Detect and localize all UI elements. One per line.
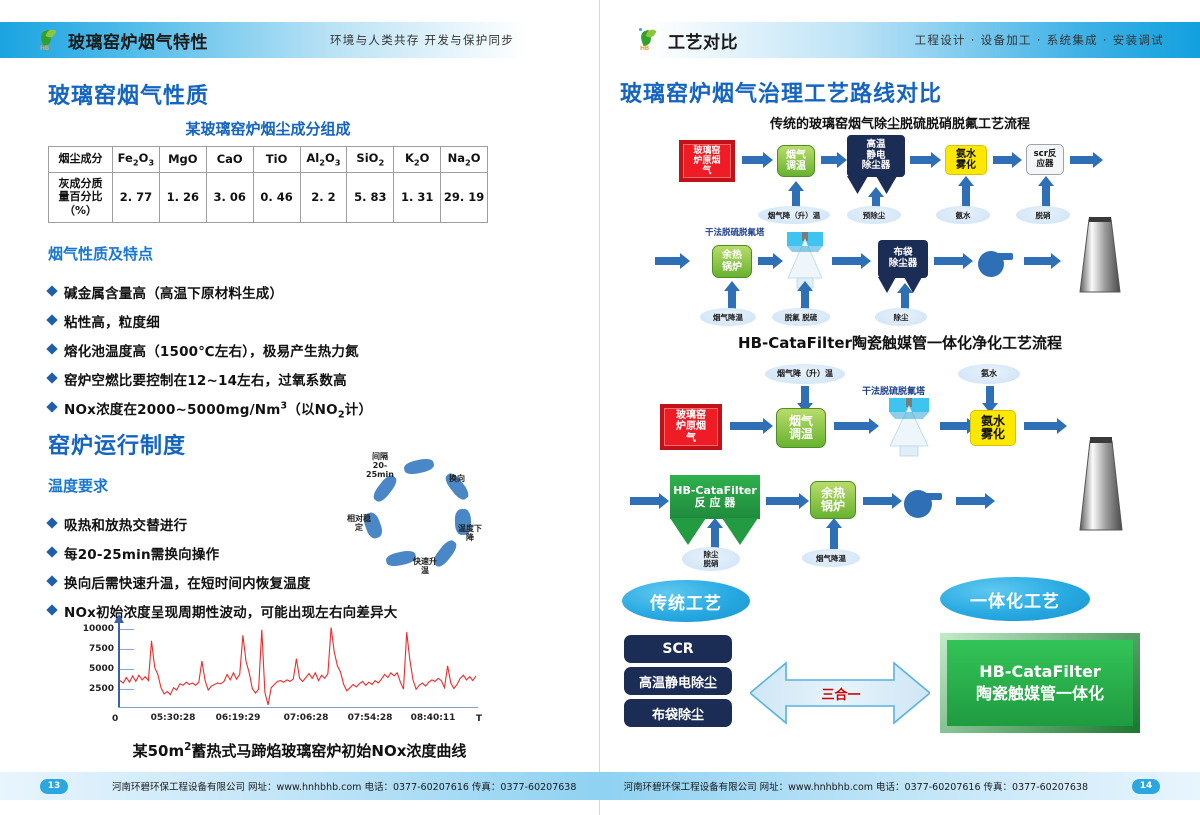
table-row-header-1: 烟尘成分 bbox=[49, 147, 113, 173]
diamond-bullet-icon bbox=[46, 314, 57, 325]
logo-dot-icon bbox=[639, 28, 642, 31]
diamond-bullet-icon bbox=[46, 401, 57, 412]
arrow-up-6 bbox=[801, 290, 809, 310]
label-dry-desulfurization-tower-2: 干法脱硫脱氟塔 bbox=[862, 384, 925, 397]
left-header-title: 玻璃窑炉烟气特性 bbox=[68, 28, 208, 53]
brochure-spread: HB 玻璃窑炉烟气特性 环境与人类共存 开发与保护同步 玻璃窑烟气性质 某玻璃窑… bbox=[0, 0, 1200, 815]
flow1-row1: 玻璃窑炉原烟气 烟气调温 高温静电除尘器 氨水雾化 scr反应器 烟气降（升）温… bbox=[600, 130, 1200, 225]
table-cell-mgo: 1. 26 bbox=[159, 172, 206, 222]
arrow-up-8 bbox=[711, 527, 719, 549]
panel-line2: 陶瓷触媒管一体化 bbox=[976, 683, 1104, 705]
feature-text: 熔化池温度高（1500℃左右），极易产生热力氮 bbox=[64, 340, 359, 360]
footer-company-right: 河南环碧环保工程设备有限公司 网址：www.hnhbhb.com 电话：0377… bbox=[624, 779, 1088, 793]
reversal-cycle-diagram: 间隔20-25min 换向 温度下降 快速升温 相对稳定 bbox=[338, 452, 518, 602]
arrow-11 bbox=[730, 422, 764, 430]
footer-left: 13 河南环碧环保工程设备有限公司 网址：www.hnhbhb.com 电话：0… bbox=[0, 772, 600, 800]
node-waste-heat-boiler-2: 余热锅炉 bbox=[810, 481, 856, 519]
left-page-header: HB 玻璃窑炉烟气特性 环境与人类共存 开发与保护同步 bbox=[0, 22, 599, 58]
table-col-sio2: SiO2 bbox=[347, 147, 394, 173]
arrow-10 bbox=[1024, 257, 1052, 265]
right-header-slogan: 工程设计 · 设备加工 · 系统集成 · 安装调试 bbox=[915, 32, 1164, 48]
logo-dot-icon bbox=[39, 28, 42, 31]
feature-text: 粘性高，粒度细 bbox=[64, 311, 160, 331]
right-header-title: 工艺对比 bbox=[668, 28, 738, 53]
list-item: 窑炉空燃比要控制在12~14左右，过氧系数高 bbox=[48, 369, 488, 389]
temperature-text: 吸热和放热交替进行 bbox=[64, 514, 187, 534]
arrow-up-4 bbox=[1042, 185, 1050, 208]
feature-text: NOx浓度在2000~5000mg/Nm3（以NO2计） bbox=[64, 398, 372, 421]
chart-series-path bbox=[120, 622, 476, 708]
node-gas-temperature-adjust-2: 烟气调温 bbox=[776, 408, 826, 448]
table-cell-na2o: 29. 19 bbox=[441, 172, 488, 222]
footer-company-left: 河南环碧环保工程设备有限公司 网址：www.hnhbhb.com 电话：0377… bbox=[112, 779, 576, 793]
node-ammonia-atomization-2: 氨水雾化 bbox=[970, 410, 1016, 446]
table-col-cao: CaO bbox=[206, 147, 253, 173]
table-cell-al2o3: 2. 2 bbox=[300, 172, 347, 222]
company-logo-icon: HB bbox=[636, 28, 660, 52]
node-high-temp-esp: 高温静电除尘器 bbox=[847, 135, 905, 177]
arrow-down-1 bbox=[801, 386, 809, 404]
comparison-block: 传统工艺 一体化工艺 SCR 高温静电除尘 布袋除尘 三合一 HB-CataFi… bbox=[600, 575, 1200, 755]
stack-chimney-icon-2 bbox=[1070, 437, 1132, 537]
feature-text: 碱金属含量高（高温下原材料生成） bbox=[64, 282, 283, 302]
company-logo-icon: HB bbox=[36, 28, 60, 52]
table-cell-k2o: 1. 31 bbox=[394, 172, 441, 222]
subsection-title-temperature: 温度要求 bbox=[48, 475, 108, 496]
arrow-up-5 bbox=[728, 290, 736, 310]
caption-dedusting-denitration: 除尘脱硝 bbox=[682, 547, 740, 571]
chip-high-temp-esp: 高温静电除尘 bbox=[624, 667, 732, 695]
cycle-arc-1 bbox=[403, 457, 435, 476]
chart-xtick-2: 06:19:29 bbox=[216, 713, 261, 723]
label-dry-desulfurization-tower: 干法脱硫脱氟塔 bbox=[705, 226, 765, 238]
node-bag-filter: 布袋除尘器 bbox=[878, 240, 928, 278]
diamond-bullet-icon bbox=[46, 575, 57, 586]
table-col-al2o3: Al2O3 bbox=[300, 147, 347, 173]
arrow-17 bbox=[863, 497, 893, 505]
diamond-bullet-icon bbox=[46, 546, 57, 557]
label-three-in-one: 三合一 bbox=[786, 681, 896, 705]
node-hb-catafilter-reactor: HB-CataFilter 反 应 器 bbox=[670, 475, 760, 519]
node-scr-reactor: scr反应器 bbox=[1026, 144, 1064, 175]
logo-text: HB bbox=[640, 45, 649, 52]
flow1-row2: 余热锅炉 干法脱硫脱氟塔 布袋除尘器 bbox=[600, 232, 1200, 332]
arrow-up-3 bbox=[962, 185, 970, 208]
page-footer: 13 河南环碧环保工程设备有限公司 网址：www.hnhbhb.com 电话：0… bbox=[0, 772, 1200, 800]
feature-text: 窑炉空燃比要控制在12~14左右，过氧系数高 bbox=[64, 369, 347, 389]
diamond-bullet-icon bbox=[46, 372, 57, 383]
stack-chimney-icon bbox=[1070, 217, 1130, 299]
arrow-12 bbox=[834, 422, 870, 430]
arrow-8 bbox=[832, 257, 862, 265]
caption-ammonia-2: 氨水 bbox=[958, 364, 1020, 384]
arrow-6 bbox=[655, 257, 681, 265]
chip-bag-filter: 布袋除尘 bbox=[624, 699, 732, 727]
dry-tower-icon-2 bbox=[885, 398, 933, 460]
chart-ytick-5000: 5000 bbox=[89, 664, 114, 674]
table-col-tio: TiO bbox=[253, 147, 300, 173]
logo-text: HB bbox=[40, 45, 49, 52]
caption-ammonia: 氨水 bbox=[936, 206, 990, 224]
left-page: HB 玻璃窑炉烟气特性 环境与人类共存 开发与保护同步 玻璃窑烟气性质 某玻璃窑… bbox=[0, 0, 600, 815]
cycle-label-temp-drop: 温度下降 bbox=[454, 524, 486, 542]
features-list: 碱金属含量高（高温下原材料生成） 粘性高，粒度细 熔化池温度高（1500℃左右）… bbox=[48, 273, 488, 430]
caption-gas-temp-change: 烟气降（升）温 bbox=[758, 206, 830, 224]
chip-scr: SCR bbox=[624, 635, 732, 663]
node-raw-flue-gas-2: 玻璃窑炉原烟气 bbox=[660, 404, 722, 450]
cycle-label-interval: 间隔20-25min bbox=[358, 452, 402, 480]
table-caption: 某玻璃窑炉烟尘成分组成 bbox=[48, 118, 488, 139]
arrow-5 bbox=[1070, 156, 1094, 164]
right-page-title: 玻璃窑炉烟气治理工艺路线对比 bbox=[620, 76, 942, 108]
tag-integrated-process: 一体化工艺 bbox=[940, 577, 1090, 621]
dust-composition-table: 烟尘成分 Fe2O3 MgO CaO TiO Al2O3 SiO2 K2O Na… bbox=[48, 146, 488, 223]
list-item: 熔化池温度高（1500℃左右），极易产生热力氮 bbox=[48, 340, 488, 360]
diamond-bullet-icon bbox=[46, 517, 57, 528]
arrow-16 bbox=[766, 497, 800, 505]
list-item: NOx浓度在2000~5000mg/Nm3（以NO2计） bbox=[48, 398, 488, 421]
table-cell-fe2o3: 2. 77 bbox=[113, 172, 160, 222]
chart-xtick-1: 05:30:28 bbox=[151, 713, 196, 723]
caption-gas-cooling-2: 烟气降温 bbox=[802, 549, 860, 567]
arrow-3 bbox=[910, 156, 932, 164]
subsection-title-gas-characteristics: 烟气性质及特点 bbox=[48, 243, 153, 264]
table-value-row: 灰成分质量百分比（%） 2. 77 1. 26 3. 06 0. 46 2. 2… bbox=[49, 172, 488, 222]
arrow-15 bbox=[630, 497, 660, 505]
arrow-13 bbox=[940, 422, 968, 430]
caption-gas-cooling-1: 烟气降温 bbox=[700, 308, 756, 326]
induced-draft-fan-icon-2 bbox=[902, 485, 948, 519]
table-col-na2o: Na2O bbox=[441, 147, 488, 173]
footer-right: 河南环碧环保工程设备有限公司 网址：www.hnhbhb.com 电话：0377… bbox=[600, 772, 1200, 800]
panel-line1: HB-CataFilter bbox=[979, 661, 1101, 683]
caption-gas-temp-change-2: 烟气降（升）温 bbox=[765, 364, 845, 384]
caption-denitration: 脱硝 bbox=[1016, 206, 1070, 224]
temperature-text: 每20-25min需换向操作 bbox=[64, 543, 219, 563]
cycle-label-fast-heat: 快速升温 bbox=[408, 557, 442, 575]
table-cell-sio2: 5. 83 bbox=[347, 172, 394, 222]
flow2-title: HB-CataFilter陶瓷触媒管一体化净化工艺流程 bbox=[620, 332, 1180, 353]
caption-defluorination-desulfurization: 脱氟 脱硫 bbox=[772, 308, 830, 326]
tag-traditional-process: 传统工艺 bbox=[622, 580, 750, 622]
table-col-mgo: MgO bbox=[159, 147, 206, 173]
table-cell-cao: 3. 06 bbox=[206, 172, 253, 222]
node-gas-temperature-adjust: 烟气调温 bbox=[777, 145, 815, 177]
right-page-header: HB 工艺对比 工程设计 · 设备加工 · 系统集成 · 安装调试 bbox=[600, 22, 1200, 58]
node-ammonia-atomization: 氨水雾化 bbox=[945, 145, 987, 175]
left-header-slogan: 环境与人类共存 开发与保护同步 bbox=[330, 32, 514, 48]
node-waste-heat-boiler: 余热锅炉 bbox=[712, 245, 752, 278]
arrow-1 bbox=[742, 156, 764, 164]
chart-xtick-5: 08:40:11 bbox=[411, 713, 456, 723]
chart-y-tick-labels: 10000 7500 5000 2500 bbox=[78, 622, 114, 708]
chart-x-axis-label: T bbox=[476, 714, 482, 724]
diamond-bullet-icon bbox=[46, 343, 57, 354]
list-item: 粘性高，粒度细 bbox=[48, 311, 488, 331]
nox-concentration-chart: 10000 7500 5000 2500 0 05:30:28 06:19:29… bbox=[78, 622, 478, 722]
chart-caption: 某50m2蓄热式马蹄焰玻璃窑炉初始NOx浓度曲线 bbox=[0, 740, 599, 761]
table-col-fe2o3: Fe2O3 bbox=[113, 147, 160, 173]
caption-dedusting: 除尘 bbox=[875, 308, 927, 326]
chart-origin-label: 0 bbox=[112, 714, 118, 724]
arrow-18 bbox=[956, 497, 986, 505]
node-raw-flue-gas: 玻璃窑炉原烟气 bbox=[679, 140, 735, 182]
flow2-row2: HB-CataFilter 反 应 器 余热锅炉 bbox=[600, 465, 1200, 570]
right-page: HB 工艺对比 工程设计 · 设备加工 · 系统集成 · 安装调试 玻璃窑炉烟气… bbox=[600, 0, 1200, 815]
diamond-bullet-icon bbox=[46, 285, 57, 296]
arrow-down-2 bbox=[986, 386, 994, 404]
induced-draft-fan-icon bbox=[976, 246, 1018, 278]
table-header-row: 烟尘成分 Fe2O3 MgO CaO TiO Al2O3 SiO2 K2O Na… bbox=[49, 147, 488, 173]
node-hb-catafilter-line2: 反 应 器 bbox=[695, 497, 736, 509]
table-cell-tio: 0. 46 bbox=[253, 172, 300, 222]
table-col-k2o: K2O bbox=[394, 147, 441, 173]
arrow-14 bbox=[1024, 422, 1058, 430]
list-item: 碱金属含量高（高温下原材料生成） bbox=[48, 282, 488, 302]
caption-pre-dedusting: 预除尘 bbox=[847, 206, 901, 224]
arrow-4 bbox=[993, 156, 1013, 164]
chart-ytick-10000: 10000 bbox=[83, 624, 114, 634]
chart-ytick-7500: 7500 bbox=[89, 644, 114, 654]
arrow-up-9 bbox=[830, 527, 838, 549]
table-row-header-2: 灰成分质量百分比（%） bbox=[49, 172, 113, 222]
chart-xtick-4: 07:54:28 bbox=[348, 713, 393, 723]
diamond-bullet-icon bbox=[46, 604, 57, 615]
chart-ytick-2500: 2500 bbox=[89, 684, 114, 694]
arrow-9 bbox=[934, 257, 964, 265]
arrow-2 bbox=[821, 156, 838, 164]
section-title-kiln-operation: 窑炉运行制度 bbox=[48, 428, 186, 460]
page-number-right: 14 bbox=[1132, 779, 1160, 794]
cycle-label-reversal: 换向 bbox=[442, 474, 472, 483]
cycle-label-stable: 相对稳定 bbox=[342, 514, 376, 532]
panel-hb-catafilter-integrated: HB-CataFilter 陶瓷触媒管一体化 bbox=[940, 633, 1140, 733]
arrow-7 bbox=[758, 257, 774, 265]
page-number-left: 13 bbox=[40, 779, 68, 794]
temperature-text: 换向后需快速升温，在短时间内恢复温度 bbox=[64, 572, 311, 592]
chart-xtick-3: 07:06:28 bbox=[284, 713, 329, 723]
section-title-flue-gas-properties: 玻璃窑烟气性质 bbox=[48, 78, 209, 110]
